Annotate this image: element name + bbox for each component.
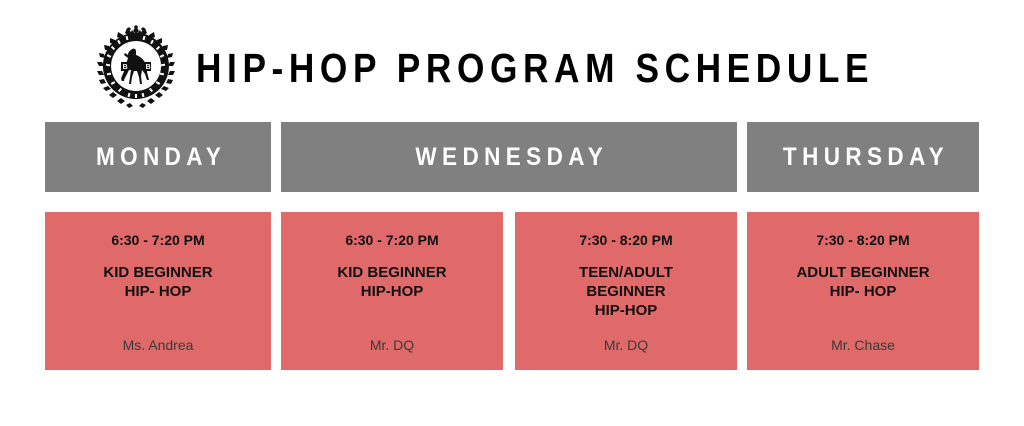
class-time: 7:30 - 8:20 PM bbox=[757, 232, 969, 249]
class-name: ADULT BEGINNER HIP- HOP bbox=[757, 263, 969, 301]
schedule-poster: B B HIP-HOP PROGRAM SCHEDULE MONDAY WEDN… bbox=[0, 0, 1024, 426]
class-card[interactable]: 6:30 - 7:20 PM KID BEGINNER HIP- HOP Ms.… bbox=[45, 212, 271, 370]
class-instructor: Mr. Chase bbox=[747, 337, 979, 354]
day-header-wednesday: WEDNESDAY bbox=[281, 122, 737, 192]
crest-logo-icon: B B bbox=[90, 24, 182, 112]
class-card-row: 6:30 - 7:20 PM KID BEGINNER HIP- HOP Ms.… bbox=[45, 212, 979, 370]
class-time: 6:30 - 7:20 PM bbox=[291, 232, 493, 249]
day-header-thursday-label: THURSDAY bbox=[777, 143, 949, 172]
class-instructor: Ms. Andrea bbox=[45, 337, 271, 354]
day-header-monday: MONDAY bbox=[45, 122, 271, 192]
day-header-thursday: THURSDAY bbox=[747, 122, 979, 192]
poster-header: B B HIP-HOP PROGRAM SCHEDULE bbox=[0, 22, 1024, 114]
class-instructor: Mr. DQ bbox=[515, 337, 737, 354]
day-header-wednesday-label: WEDNESDAY bbox=[410, 143, 608, 172]
class-card[interactable]: 7:30 - 8:20 PM TEEN/ADULT BEGINNER HIP-H… bbox=[515, 212, 737, 370]
day-header-monday-label: MONDAY bbox=[90, 143, 226, 172]
class-card[interactable]: 7:30 - 8:20 PM ADULT BEGINNER HIP- HOP M… bbox=[747, 212, 979, 370]
day-header-band: MONDAY WEDNESDAY THURSDAY bbox=[45, 122, 979, 192]
svg-text:B: B bbox=[123, 64, 128, 71]
page-title: HIP-HOP PROGRAM SCHEDULE bbox=[196, 46, 874, 90]
class-name: TEEN/ADULT BEGINNER HIP-HOP bbox=[525, 263, 727, 320]
svg-text:B: B bbox=[146, 64, 151, 71]
class-card[interactable]: 6:30 - 7:20 PM KID BEGINNER HIP-HOP Mr. … bbox=[281, 212, 503, 370]
class-name: KID BEGINNER HIP- HOP bbox=[55, 263, 261, 301]
class-time: 6:30 - 7:20 PM bbox=[55, 232, 261, 249]
class-instructor: Mr. DQ bbox=[281, 337, 503, 354]
class-name: KID BEGINNER HIP-HOP bbox=[291, 263, 493, 301]
class-time: 7:30 - 8:20 PM bbox=[525, 232, 727, 249]
